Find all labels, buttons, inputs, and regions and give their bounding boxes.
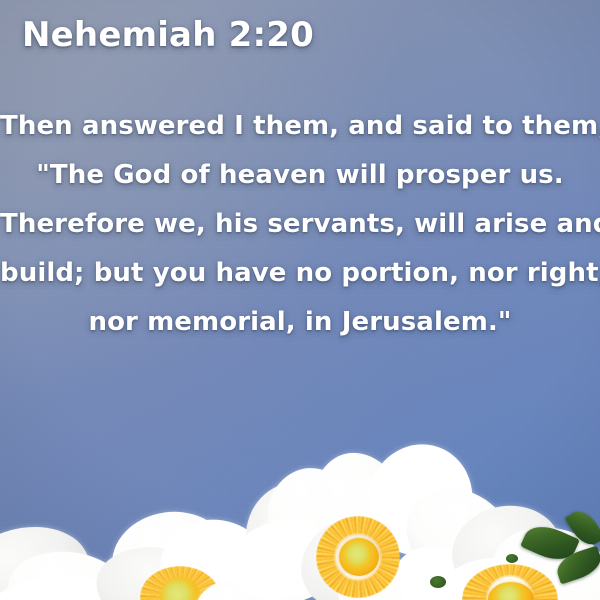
verse-image-canvas: Nehemiah 2:20 Then answered I them, and … bbox=[0, 0, 600, 600]
verse-line: Therefore we, his servants, will arise a… bbox=[0, 200, 600, 249]
verse-line: nor memorial, in Jerusalem." bbox=[0, 298, 600, 347]
verse-body-text: Then answered I them, and said to them, … bbox=[0, 102, 600, 347]
verse-line: build; but you have no portion, nor righ… bbox=[0, 249, 600, 298]
verse-line: Then answered I them, and said to them, bbox=[0, 102, 600, 151]
verse-line: "The God of heaven will prosper us. bbox=[0, 151, 600, 200]
verse-reference-title: Nehemiah 2:20 bbox=[22, 14, 314, 56]
text-overlay: Nehemiah 2:20 Then answered I them, and … bbox=[0, 0, 600, 600]
